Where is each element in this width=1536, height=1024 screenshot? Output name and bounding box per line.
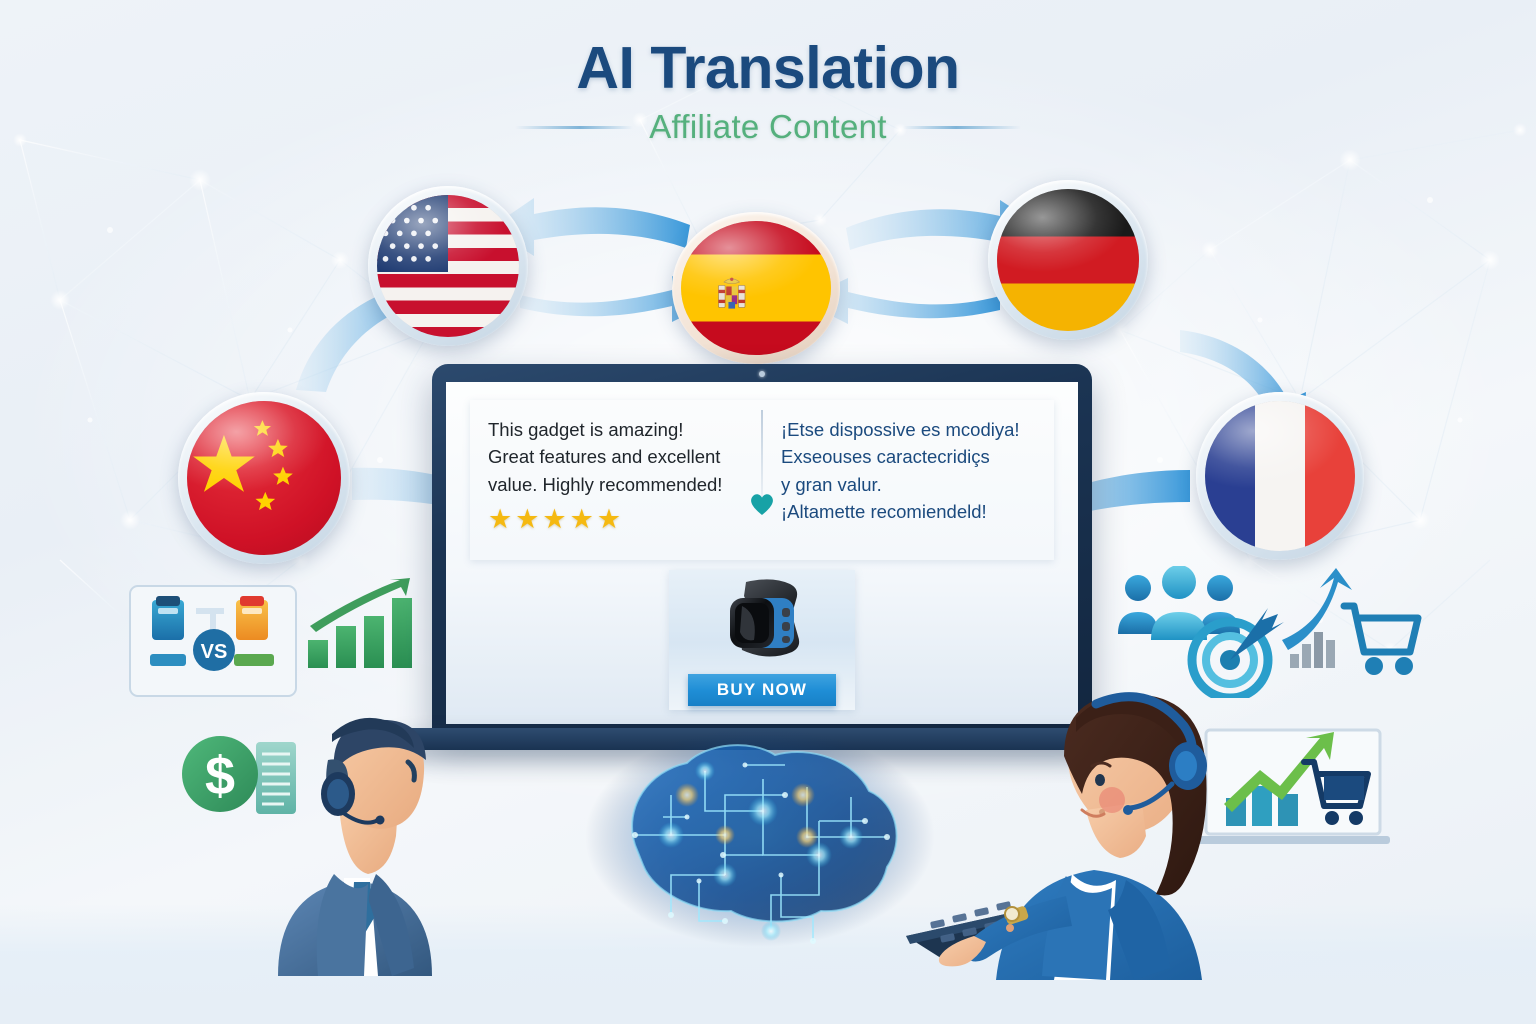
us-stars [377, 195, 448, 272]
spain-stripes [681, 221, 831, 355]
flag-disc [1205, 401, 1355, 551]
translated-line-1: ¡Etse dispossive es mcodiya! [781, 416, 1044, 443]
france-flag[interactable] [1196, 392, 1364, 560]
china-stars [187, 401, 341, 555]
flag-disc [681, 221, 831, 355]
translated-review-column: ¡Etse dispossive es mcodiya! Exseouses c… [763, 400, 1054, 560]
buy-now-button[interactable]: BUY NOW [688, 674, 836, 706]
shopping-cart-icon [1344, 606, 1418, 675]
woman-with-headset-typing [900, 660, 1220, 980]
panel-divider [761, 410, 763, 500]
businessman-with-headset [258, 676, 468, 976]
review-translation-panel: This gadget is amazing! Great features a… [470, 400, 1054, 560]
page-title: AI Translation [0, 34, 1536, 102]
china-flag[interactable] [178, 392, 350, 564]
title-rule-left [515, 126, 633, 129]
product-card: BUY NOW [669, 570, 855, 710]
webcam-icon [759, 371, 765, 377]
svg-text:VS: VS [201, 641, 228, 663]
spain-flag[interactable] [672, 212, 840, 364]
audience-group-icon [1118, 566, 1240, 640]
dollar-coin-icon: $ [182, 736, 258, 812]
title-rule-right [903, 126, 1021, 129]
germany-stripes [997, 189, 1139, 331]
flag-disc [377, 195, 519, 337]
green-growth-bar-chart [308, 578, 412, 668]
ai-circuit-brain [575, 725, 945, 965]
header-block: AI Translation Affiliate Content [0, 34, 1536, 146]
france-bands [1205, 401, 1355, 551]
flag-disc [187, 401, 341, 555]
translated-line-3: y gran valur. [781, 471, 1044, 498]
spain-coat-of-arms [713, 271, 751, 315]
heart-icon [749, 492, 775, 516]
united-states-flag[interactable] [368, 186, 528, 346]
source-line-2: Great features and excellent [488, 443, 751, 470]
germany-flag[interactable] [988, 180, 1148, 340]
infographic-canvas: AI Translation Affiliate Content [0, 0, 1536, 1024]
page-subtitle: Affiliate Content [649, 108, 886, 146]
us-canton [377, 195, 448, 272]
translated-line-4: ¡Altamette recomiendeld! [781, 498, 1044, 525]
source-line-1: This gadget is amazing! [488, 416, 751, 443]
star-rating: ★★★★★ [488, 504, 751, 535]
svg-text:$: $ [205, 746, 235, 806]
source-review-column: This gadget is amazing! Great features a… [470, 400, 761, 560]
smartwatch-icon [708, 576, 816, 672]
source-line-3: value. Highly recommended! [488, 471, 751, 498]
flag-disc [997, 189, 1139, 331]
translated-line-2: Exseouses caractecridiçs [781, 443, 1044, 470]
